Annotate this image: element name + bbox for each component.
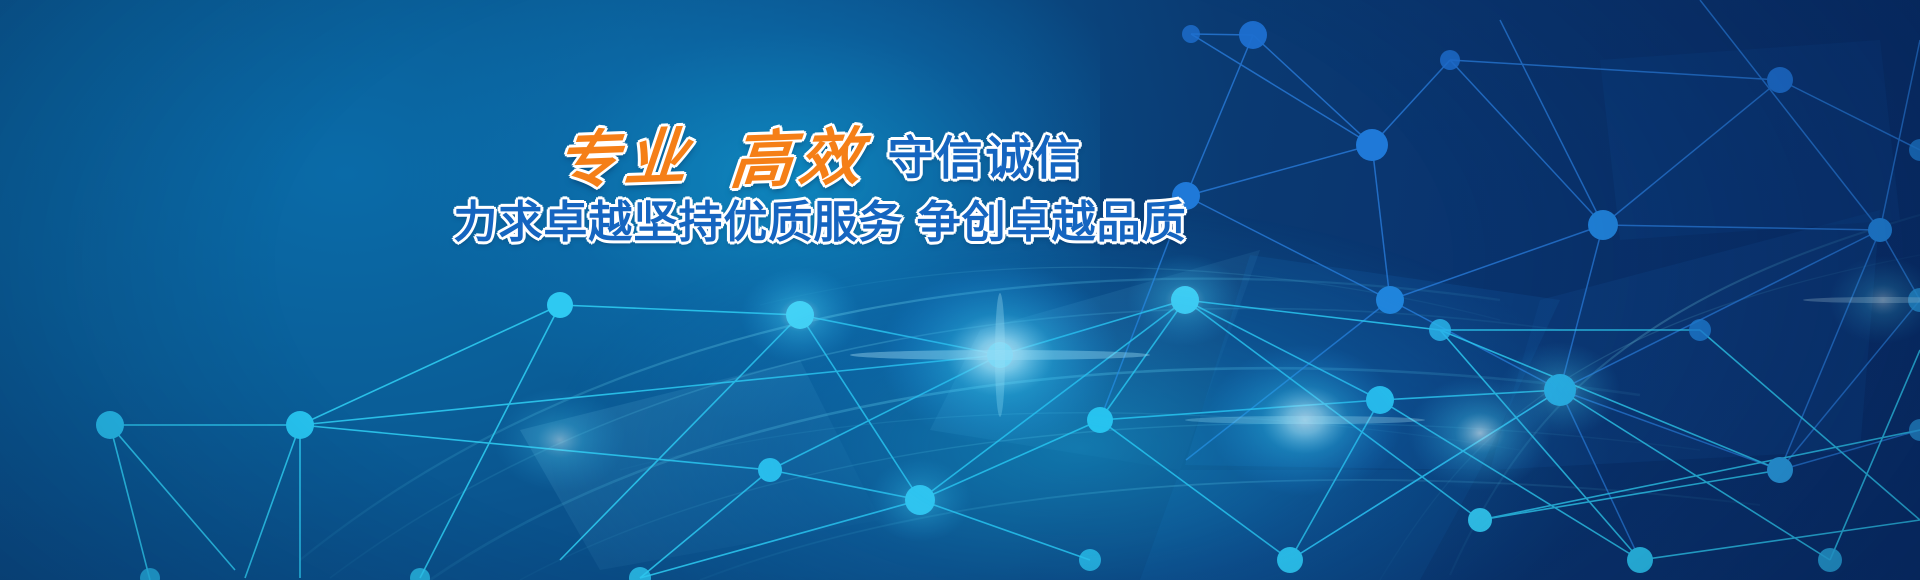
background-vignette (0, 0, 1920, 580)
headline-line-2: 力求卓越坚持优质服务 争创卓越品质 (440, 200, 1200, 246)
headline-secondary-integrity: 守信诚信 (887, 135, 1083, 181)
hero-banner: 专业 高效 守信诚信 力求卓越坚持优质服务 争创卓越品质 (0, 0, 1920, 580)
headline-accent-professional: 专业 (554, 126, 696, 193)
headline-block: 专业 高效 守信诚信 力求卓越坚持优质服务 争创卓越品质 (440, 128, 1200, 246)
headline-line-1: 专业 高效 守信诚信 (440, 128, 1200, 190)
headline-accent-efficient: 高效 (728, 126, 870, 193)
